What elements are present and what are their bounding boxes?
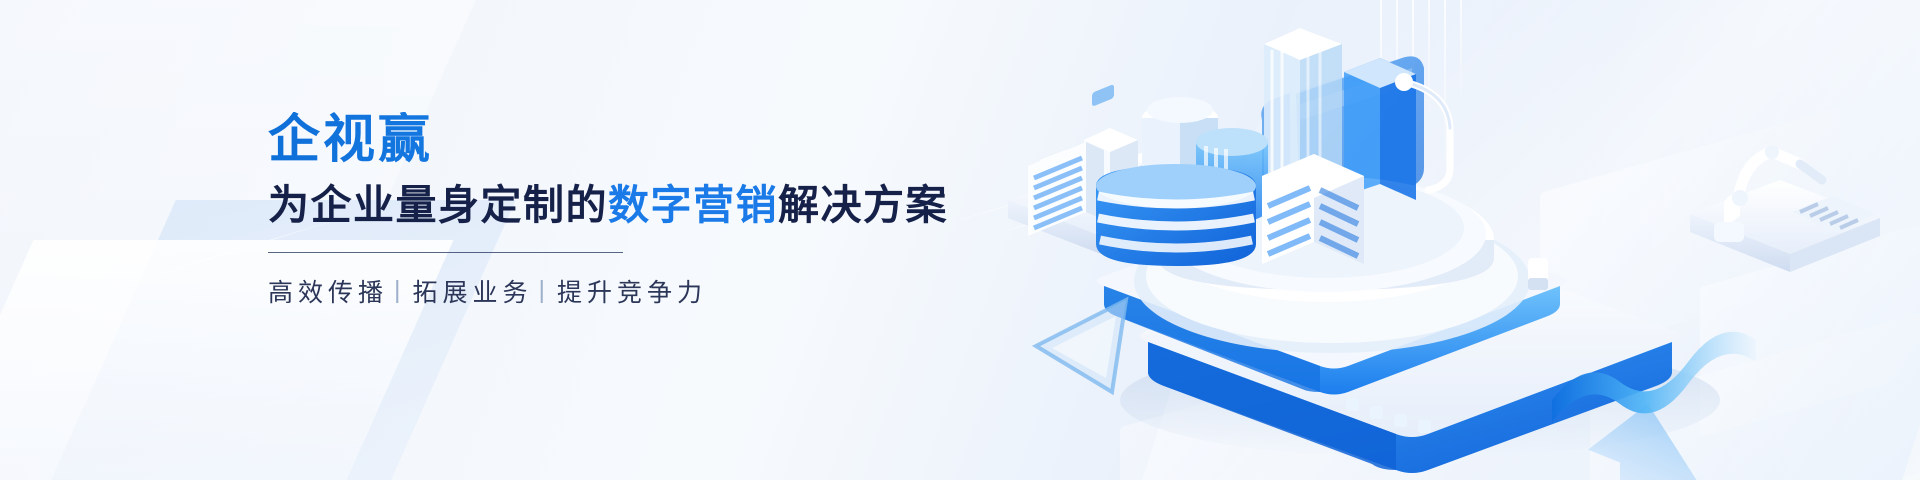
glass-triangle	[1036, 300, 1126, 392]
pipe-joint	[1395, 73, 1413, 91]
banner-copy: 企视赢 为企业量身定制的数字营销解决方案 高效传播 | 拓展业务 | 提升竞争力	[268, 112, 908, 309]
tray-pin	[1528, 258, 1548, 290]
feature-item-0: 高效传播	[268, 273, 388, 309]
feature-separator: |	[394, 276, 401, 305]
feature-item-2: 提升竞争力	[557, 273, 707, 309]
feature-separator: |	[539, 276, 546, 305]
headline-highlight: 数字营销	[608, 182, 778, 228]
brand-title: 企视赢	[268, 112, 908, 168]
feature-list: 高效传播 | 拓展业务 | 提升竞争力	[268, 273, 908, 309]
headline: 为企业量身定制的数字营销解决方案	[268, 182, 908, 230]
robot-arm-pad	[1690, 145, 1880, 272]
headline-tail: 解决方案	[778, 182, 948, 228]
illustration	[1000, 0, 1920, 480]
marketing-banner: 企视赢 为企业量身定制的数字营销解决方案 高效传播 | 拓展业务 | 提升竞争力	[0, 0, 1920, 480]
ringed-round-building	[1096, 164, 1256, 266]
headline-lead: 为企业量身定制的	[268, 182, 608, 228]
feature-item-1: 拓展业务	[413, 273, 533, 309]
headline-divider	[268, 252, 623, 253]
